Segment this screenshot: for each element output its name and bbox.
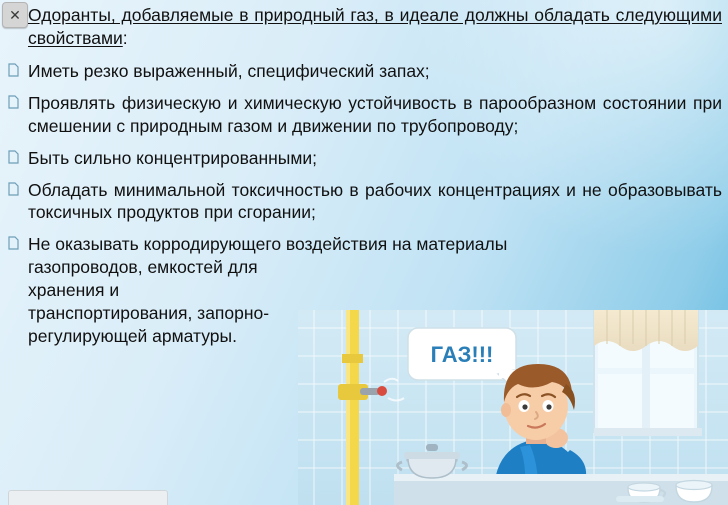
list-item: Обладать минимальной токсичностью в рабо…	[0, 179, 728, 225]
list-item: Быть сильно концентрированными;	[0, 147, 728, 170]
bullet-marker-icon	[8, 147, 28, 164]
bullet-text-line1: Не оказывать корродирующего воздействия …	[28, 233, 628, 256]
bullet-text: Быть сильно концентрированными;	[28, 147, 722, 170]
slide: ✕ Одоранты, добавляемые в природный газ,…	[0, 0, 728, 505]
slide-content: Одоранты, добавляемые в природный газ, в…	[0, 0, 728, 348]
list-item: Иметь резко выраженный, специфический за…	[0, 60, 728, 83]
bullet-marker-icon	[8, 233, 28, 250]
bullet-marker-icon	[8, 179, 28, 196]
lead-colon: :	[123, 28, 128, 48]
bullet-text: Обладать минимальной токсичностью в рабо…	[28, 179, 722, 225]
footer-bar	[8, 490, 168, 505]
illustration-kitchen-gas-leak: ГАЗ!!!	[298, 310, 728, 505]
list-item: Одоранты, добавляемые в природный газ, в…	[0, 4, 728, 50]
list-item: Проявлять физическую и химическую устойч…	[0, 92, 728, 138]
bullet-text: Иметь резко выраженный, специфический за…	[28, 60, 722, 83]
lead-paragraph: Одоранты, добавляемые в природный газ, в…	[28, 4, 722, 50]
close-icon[interactable]: ✕	[2, 2, 28, 28]
speech-bubble-text: ГАЗ!!!	[431, 342, 494, 367]
bullet-text-rest: газопроводов, емкостей для хранения и тр…	[28, 256, 278, 348]
bullet-text: Проявлять физическую и химическую устойч…	[28, 92, 722, 138]
bullet-marker-icon	[8, 92, 28, 109]
bullet-marker-icon	[8, 60, 28, 77]
lead-text: Одоранты, добавляемые в природный газ, в…	[28, 5, 722, 48]
